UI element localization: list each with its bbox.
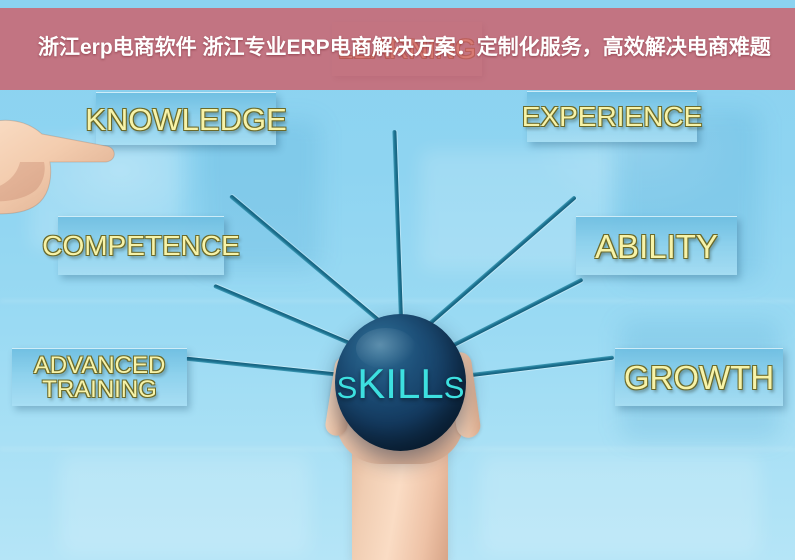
keyword-label-text-growth: GROWTH (624, 361, 774, 394)
keyword-label-text-ability: ABILITY (595, 230, 718, 263)
sphere-label: SKILLS (335, 360, 466, 408)
keyword-label-text-experience: EXPERIENCE (522, 103, 703, 131)
headline-banner: 浙江erp电商软件 浙江专业ERP电商解决方案：定制化服务，高效解决电商难题 (0, 8, 795, 90)
skills-sphere: SKILLS (335, 314, 466, 451)
keyword-label-ability[interactable]: ABILITY (576, 216, 737, 275)
bg-blur-shape (60, 455, 310, 555)
poster-canvas: LEARNING SKILLS KNOWLEDGEEXPERIENCECOMPE… (0, 0, 795, 560)
keyword-label-text-advanced-training: ADVANCED TRAINING (34, 354, 166, 402)
keyword-label-experience[interactable]: EXPERIENCE (527, 91, 697, 142)
bg-blur-shape (480, 455, 760, 555)
keyword-label-advanced-training[interactable]: ADVANCED TRAINING (12, 348, 187, 406)
sphere-label-text: SKILLS (337, 360, 465, 407)
page-title: 浙江erp电商软件 浙江专业ERP电商解决方案：定制化服务，高效解决电商难题 (0, 28, 793, 71)
pointing-hand-icon (0, 108, 124, 243)
keyword-label-growth[interactable]: GROWTH (615, 348, 783, 406)
